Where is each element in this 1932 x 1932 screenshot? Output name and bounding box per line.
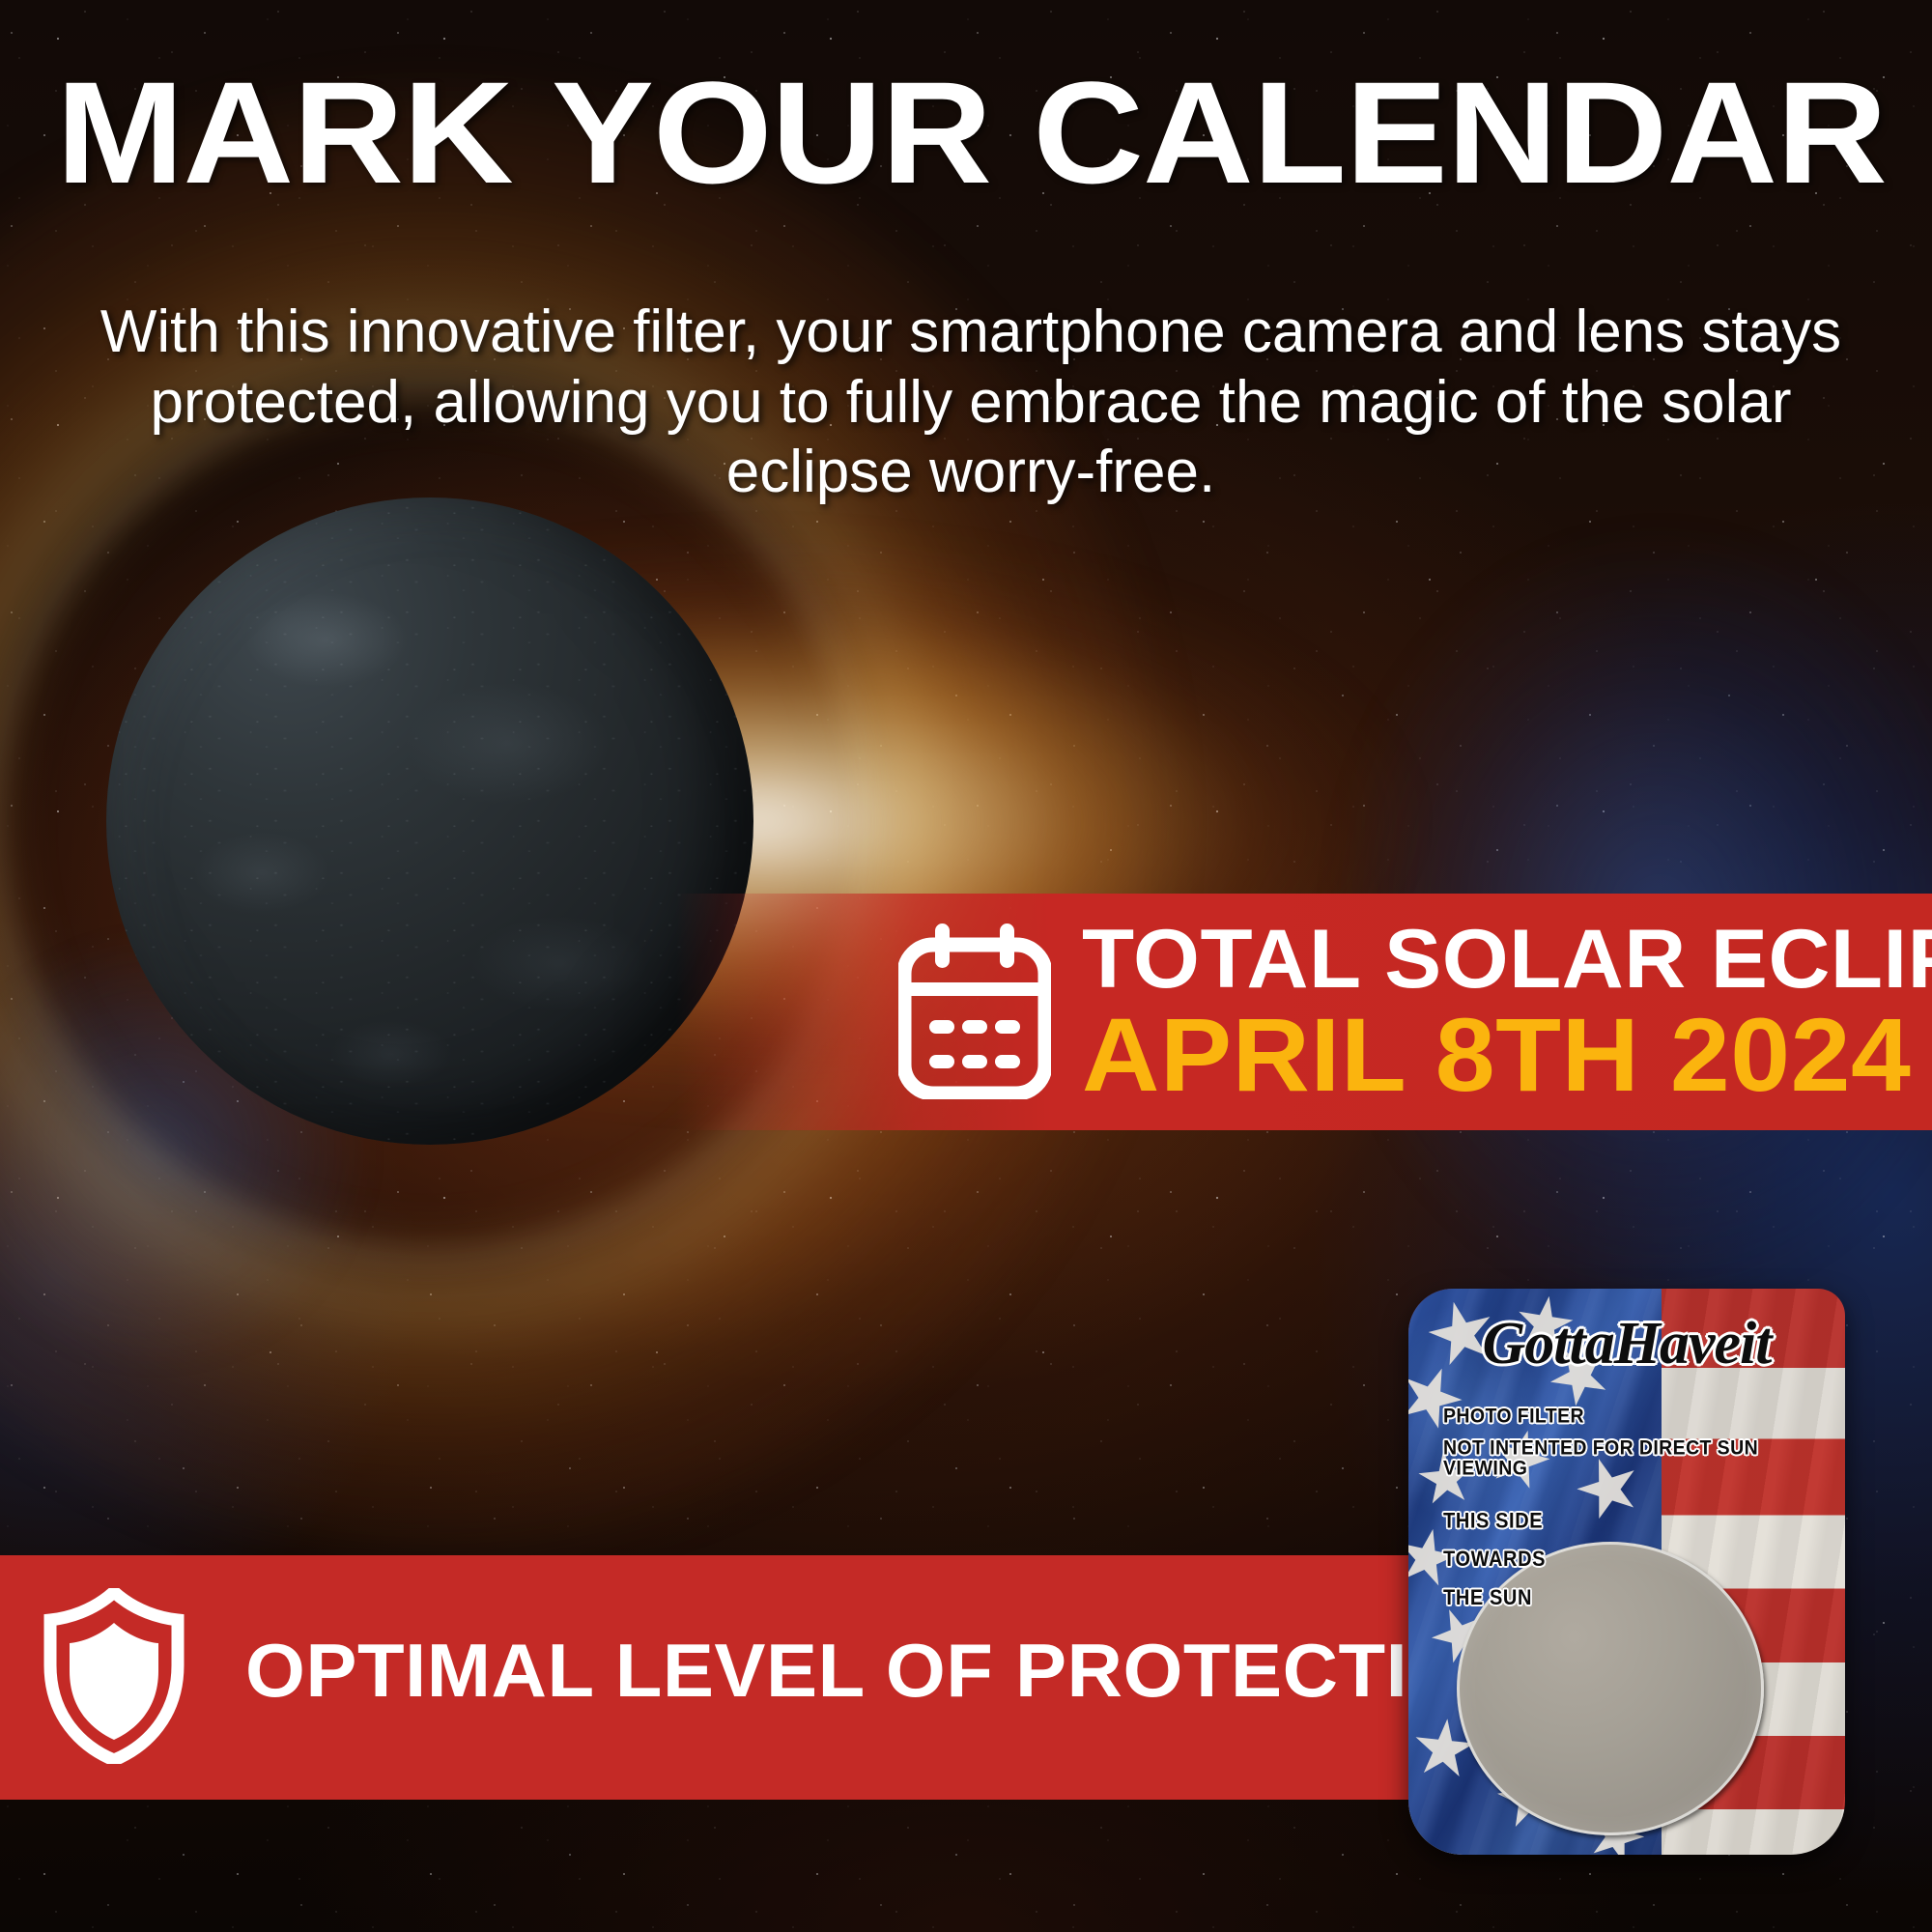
moon-limb-highlight xyxy=(106,497,753,1145)
product-orientation-text: THIS SIDE TOWARDS THE SUN xyxy=(1443,1511,1546,1626)
orientation-line-2: TOWARDS xyxy=(1443,1549,1546,1571)
orientation-line-3: THE SUN xyxy=(1443,1587,1546,1608)
brand-logo: GottaHaveit xyxy=(1408,1310,1845,1378)
legal-line-1: PHOTO FILTER xyxy=(1443,1406,1845,1427)
eclipse-date: APRIL 8TH 2024 xyxy=(1082,1002,1932,1108)
product-legal-text: PHOTO FILTER NOT INTENTED FOR DIRECT SUN… xyxy=(1443,1406,1845,1479)
moon-disk xyxy=(106,497,753,1145)
product-filter-card[interactable]: GottaHaveit PHOTO FILTER NOT INTENTED FO… xyxy=(1408,1289,1845,1855)
shield-icon xyxy=(43,1588,185,1764)
page-title: MARK YOUR CALENDAR xyxy=(56,60,1932,205)
protection-label: OPTIMAL LEVEL OF PROTECTION xyxy=(245,1633,1524,1708)
date-banner-text: TOTAL SOLAR ECLIPSE APRIL 8TH 2024 xyxy=(1082,919,1913,1108)
eclipse-title: TOTAL SOLAR ECLIPSE xyxy=(1082,919,1932,1000)
legal-line-2: NOT INTENTED FOR DIRECT SUN VIEWING xyxy=(1443,1437,1845,1479)
date-banner: TOTAL SOLAR ECLIPSE APRIL 8TH 2024 xyxy=(676,894,1932,1130)
poster-canvas: MARK YOUR CALENDAR With this innovative … xyxy=(0,0,1932,1932)
protection-banner: OPTIMAL LEVEL OF PROTECTION xyxy=(0,1555,1408,1800)
page-subtitle: With this innovative filter, your smartp… xyxy=(97,298,1845,508)
calendar-icon xyxy=(898,923,1051,1099)
solar-eclipse-graphic xyxy=(106,497,753,1145)
orientation-line-1: THIS SIDE xyxy=(1443,1511,1546,1532)
